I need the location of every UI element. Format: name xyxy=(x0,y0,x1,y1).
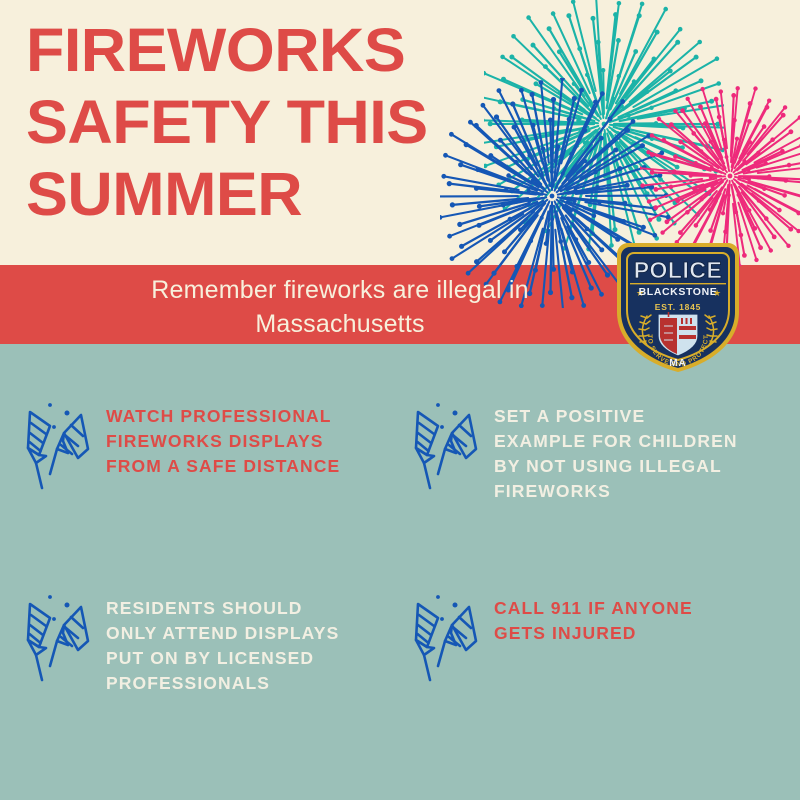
badge-police-text: POLICE xyxy=(634,257,723,283)
tip-watch-professional-displays: WATCH PROFESSIONAL FIREWORKS DISPLAYS FR… xyxy=(26,396,396,492)
tip-text: RESIDENTS SHOULD ONLY ATTEND DISPLAYS PU… xyxy=(106,588,339,696)
tip-set-positive-example: SET A POSITIVE EXAMPLE FOR CHILDREN BY N… xyxy=(414,396,789,504)
fireworks-rocket-icon xyxy=(26,588,98,684)
tip-text: SET A POSITIVE EXAMPLE FOR CHILDREN BY N… xyxy=(494,396,738,504)
tip-text: WATCH PROFESSIONAL FIREWORKS DISPLAYS FR… xyxy=(106,396,340,479)
tip-attend-licensed-displays: RESIDENTS SHOULD ONLY ATTEND DISPLAYS PU… xyxy=(26,588,396,696)
fireworks-rocket-icon xyxy=(414,588,486,684)
badge-established-text: EST. 1845 xyxy=(655,302,701,312)
page-title: FIREWORKS SAFETY THIS SUMMER xyxy=(26,14,510,230)
fireworks-rocket-icon xyxy=(414,396,486,492)
fireworks-rocket-icon xyxy=(26,396,98,492)
svg-text:★: ★ xyxy=(713,288,721,298)
banner-subtitle: Remember fireworks are illegal in Massac… xyxy=(60,273,620,341)
badge-state-text: MA xyxy=(669,358,687,369)
tip-call-911-if-injured: CALL 911 IF ANYONE GETS INJURED xyxy=(414,588,789,684)
police-badge-icon: POLICE ★ BLACKSTONE ★ EST. 1845 xyxy=(614,240,742,373)
fireworks-safety-poster: FIREWORKS SAFETY THIS SUMMER Remember fi… xyxy=(0,0,800,800)
badge-department-text: BLACKSTONE xyxy=(639,286,718,298)
tip-text: CALL 911 IF ANYONE GETS INJURED xyxy=(494,588,693,646)
firework-burst-pink-icon xyxy=(640,86,800,266)
